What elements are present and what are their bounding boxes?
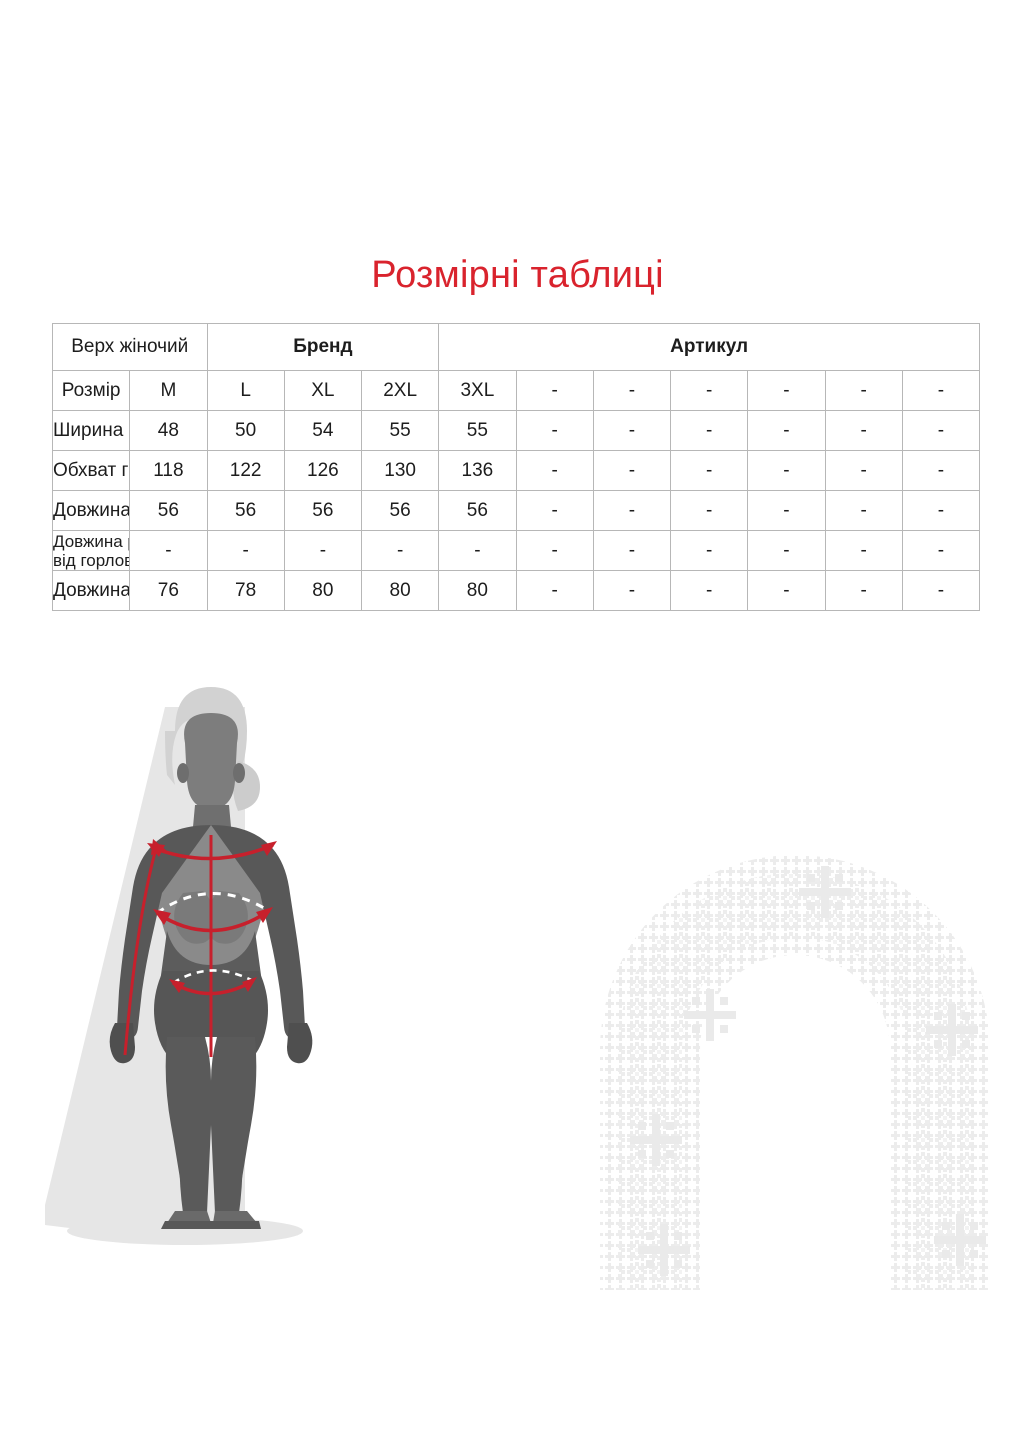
cell-sleeve-c10: - (825, 491, 902, 531)
cell-size-c3: XL (284, 371, 361, 411)
cell-chest-c5: 136 (439, 451, 516, 491)
cell-sleeve-c1: 56 (130, 491, 207, 531)
table-row: Довжина рукава 56 56 56 56 56 - - - - - … (53, 491, 980, 531)
cell-length-c2: 78 (207, 571, 284, 611)
row-label-size: Розмір (53, 371, 130, 411)
cell-sleeveneck-c8: - (671, 531, 748, 571)
cell-size-c11: - (902, 371, 979, 411)
cell-length-c4: 80 (362, 571, 439, 611)
row-label-sleeve-from-neck: Довжина рукававід горловини (53, 531, 130, 571)
cell-length-c10: - (825, 571, 902, 611)
cell-length-c3: 80 (284, 571, 361, 611)
table-row: Ширина плечей 48 50 54 55 55 - - - - - - (53, 411, 980, 451)
ukrainian-embroidery-arch-watermark (560, 800, 1030, 1290)
row-label-line1: Довжина рукава (53, 532, 130, 551)
table-article-label: Артикул (439, 324, 980, 371)
cell-sleeveneck-c6: - (516, 531, 593, 571)
ornament-star-motifs (630, 866, 986, 1276)
cell-sleeveneck-c11: - (902, 531, 979, 571)
cell-sleeveneck-c7: - (593, 531, 670, 571)
cell-size-c8: - (671, 371, 748, 411)
cell-sleeveneck-c4: - (362, 531, 439, 571)
cell-length-c11: - (902, 571, 979, 611)
cell-length-c8: - (671, 571, 748, 611)
cell-sleeveneck-c10: - (825, 531, 902, 571)
cell-sleeve-c2: 56 (207, 491, 284, 531)
cell-size-c5: 3XL (439, 371, 516, 411)
table-row: Довжина рукававід горловини - - - - - - … (53, 531, 980, 571)
table-row: Розмір M L XL 2XL 3XL - - - - - - (53, 371, 980, 411)
female-mannequin-measurement-diagram (45, 665, 375, 1285)
table-row: Довжина виробу 76 78 80 80 80 - - - - - … (53, 571, 980, 611)
row-label-sleeve-length: Довжина рукава (53, 491, 130, 531)
cell-chest-c7: - (593, 451, 670, 491)
cell-shoulder-c3: 54 (284, 411, 361, 451)
cell-chest-c6: - (516, 451, 593, 491)
row-label-line2: від горловини (53, 551, 130, 570)
cell-chest-c11: - (902, 451, 979, 491)
size-table-container: Верх жіночий Бренд Артикул Розмір M L XL… (52, 323, 980, 611)
cell-sleeveneck-c2: - (207, 531, 284, 571)
cell-sleeve-c8: - (671, 491, 748, 531)
cell-sleeve-c9: - (748, 491, 825, 531)
cell-chest-c4: 130 (362, 451, 439, 491)
row-label-shoulder-width: Ширина плечей (53, 411, 130, 451)
cell-length-c7: - (593, 571, 670, 611)
cell-shoulder-c6: - (516, 411, 593, 451)
cell-sleeve-c6: - (516, 491, 593, 531)
cell-shoulder-c10: - (825, 411, 902, 451)
cell-sleeveneck-c5: - (439, 531, 516, 571)
page-title: Розмірні таблиці (0, 252, 1035, 298)
cell-size-c6: - (516, 371, 593, 411)
ornament-band-outer (560, 800, 1030, 1290)
cell-length-c1: 76 (130, 571, 207, 611)
row-label-chest: Обхват грудей (53, 451, 130, 491)
cell-sleeve-c11: - (902, 491, 979, 531)
cell-sleeve-c4: 56 (362, 491, 439, 531)
cell-sleeveneck-c1: - (130, 531, 207, 571)
cell-chest-c8: - (671, 451, 748, 491)
table-brand-label: Бренд (207, 324, 439, 371)
cell-size-c4: 2XL (362, 371, 439, 411)
cell-length-c5: 80 (439, 571, 516, 611)
cell-shoulder-c7: - (593, 411, 670, 451)
cell-size-c2: L (207, 371, 284, 411)
cell-size-c10: - (825, 371, 902, 411)
cell-size-c7: - (593, 371, 670, 411)
cell-sleeveneck-c3: - (284, 531, 361, 571)
cell-length-c9: - (748, 571, 825, 611)
table-meta-row: Верх жіночий Бренд Артикул (53, 324, 980, 371)
cell-shoulder-c9: - (748, 411, 825, 451)
cell-shoulder-c4: 55 (362, 411, 439, 451)
ornament-band-diamonds (560, 800, 1030, 1290)
table-row: Обхват грудей 118 122 126 130 136 - - - … (53, 451, 980, 491)
cell-size-c9: - (748, 371, 825, 411)
cell-chest-c3: 126 (284, 451, 361, 491)
cell-shoulder-c5: 55 (439, 411, 516, 451)
table-category-label: Верх жіночий (53, 324, 208, 371)
cell-chest-c1: 118 (130, 451, 207, 491)
cell-chest-c10: - (825, 451, 902, 491)
cell-chest-c2: 122 (207, 451, 284, 491)
cell-shoulder-c8: - (671, 411, 748, 451)
cell-sleeveneck-c9: - (748, 531, 825, 571)
cell-size-c1: M (130, 371, 207, 411)
cell-sleeve-c3: 56 (284, 491, 361, 531)
cell-sleeve-c5: 56 (439, 491, 516, 531)
cell-shoulder-c2: 50 (207, 411, 284, 451)
cell-sleeve-c7: - (593, 491, 670, 531)
cell-shoulder-c11: - (902, 411, 979, 451)
cell-length-c6: - (516, 571, 593, 611)
row-label-product-length: Довжина виробу (53, 571, 130, 611)
size-table: Верх жіночий Бренд Артикул Розмір M L XL… (52, 323, 980, 611)
cell-chest-c9: - (748, 451, 825, 491)
cell-shoulder-c1: 48 (130, 411, 207, 451)
